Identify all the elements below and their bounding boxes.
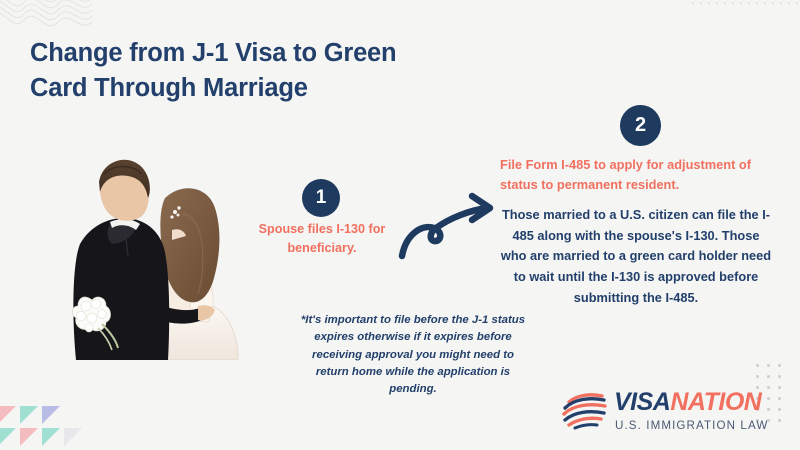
globe-icon (562, 392, 608, 430)
footnote-text: *It's important to file before the J-1 s… (300, 312, 526, 399)
step-1-badge: 1 (302, 179, 340, 217)
page-title: Change from J-1 Visa to Green Card Throu… (30, 36, 500, 106)
title-line-1: Change from J-1 Visa to Green (30, 39, 396, 67)
logo-word-visa: VISA (614, 388, 670, 416)
logo-tagline: U.S. IMMIGRATION LAW (615, 420, 768, 432)
curved-arrow-icon (396, 186, 508, 266)
top-dots-decoration (690, 2, 800, 12)
infographic-canvas: Change from J-1 Visa to Green Card Throu… (0, 0, 800, 450)
title-line-2: Card Through Marriage (30, 71, 500, 106)
logo-wordmark: VISANATION (614, 390, 761, 415)
step-2-badge: 2 (620, 105, 661, 146)
step-1-caption: Spouse files I-130 for beneficiary. (248, 220, 396, 258)
wedding-couple-illustration (62, 152, 252, 360)
triangle-pattern-decoration (0, 396, 98, 448)
step-2-heading: File Form I-485 to apply for adjustment … (500, 155, 772, 195)
visanation-logo[interactable]: VISANATION U.S. IMMIGRATION LAW (562, 390, 784, 442)
logo-word-nation: NATION (670, 388, 761, 416)
step-2-body: Those married to a U.S. citizen can file… (500, 205, 772, 309)
